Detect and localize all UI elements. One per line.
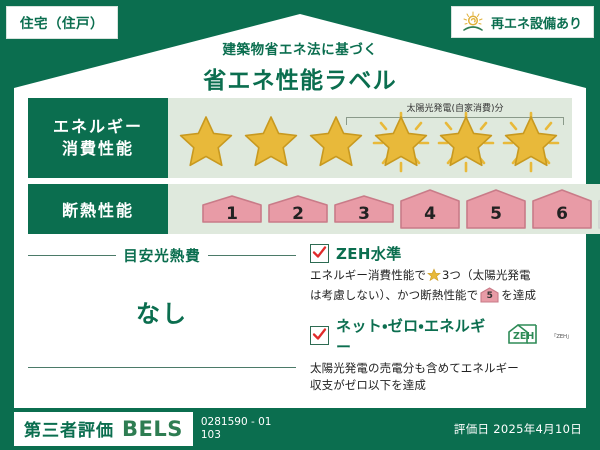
insulation-level-1: 1 bbox=[200, 188, 264, 230]
label-title-block: 建築物省エネ法に基づく 省エネ性能ラベル bbox=[0, 38, 600, 95]
renewable-badge-label: 再エネ設備あり bbox=[491, 13, 582, 32]
performance-rows: エネルギー 消費性能 太陽光発電(自家消費)分 bbox=[28, 98, 572, 240]
zeh-item-standard: ZEH水準 エネルギー消費性能で3つ（太陽光発電 は考慮しない）、かつ断熱性能で… bbox=[310, 243, 572, 305]
zeh-panel: ZEH水準 エネルギー消費性能で3つ（太陽光発電 は考慮しない）、かつ断熱性能で… bbox=[296, 243, 572, 404]
energy-performance-label: 住宅（住戸） 再エネ設備あり 建築物省エネ法に基づく 省 bbox=[0, 0, 600, 450]
zeh-desc-part3: を達成 bbox=[501, 288, 536, 302]
insulation-level-3: 3 bbox=[332, 188, 396, 230]
title-subtitle: 建築物省エネ法に基づく bbox=[0, 38, 600, 58]
bels-badge: 第三者評価 BELS bbox=[14, 412, 193, 446]
divider-right bbox=[208, 255, 296, 256]
zeh-logo-icon: ZEH bbox=[506, 323, 544, 349]
svg-text:ZEH: ZEH bbox=[513, 331, 534, 342]
zeh-net-zero-header: ネット・ゼロ・エネルギー ZEH 「ZEH」 bbox=[310, 315, 572, 357]
insulation-level-scale: 1 2 3 4 5 6 7 bbox=[168, 188, 600, 230]
sun-icon bbox=[460, 11, 486, 33]
zeh-net-zero-description: 太陽光発電の売電分も含めてエネルギー 収支がゼロ以下を達成 bbox=[310, 360, 572, 395]
insulation-level-number: 1 bbox=[200, 204, 264, 224]
insulation-performance-row: 断熱性能 1 2 3 4 5 6 7 bbox=[28, 184, 572, 234]
insulation-level-number: 6 bbox=[530, 204, 594, 224]
third-party-evaluation-label: 第三者評価 bbox=[24, 416, 114, 441]
zeh-net-zero-desc-line1: 太陽光発電の売電分も含めてエネルギー bbox=[310, 361, 519, 375]
insulation-level-4: 4 bbox=[398, 188, 462, 230]
page-title: 省エネ性能ラベル bbox=[0, 61, 600, 95]
certificate-number: 0281590 - 01 103 bbox=[201, 416, 272, 442]
lower-panels: 目安光熱費 なし ZEH水準 エネルギー消費性能で3つ（太陽光発電 bbox=[28, 243, 572, 404]
zeh-standard-description: エネルギー消費性能で3つ（太陽光発電 は考慮しない）、かつ断熱性能で5を達成 bbox=[310, 267, 572, 305]
utility-cost-bottom-divider bbox=[28, 367, 296, 368]
insulation-level-number: 7 bbox=[596, 204, 600, 224]
insulation-row-body: 1 2 3 4 5 6 7 bbox=[168, 184, 600, 234]
utility-cost-panel: 目安光熱費 なし bbox=[28, 243, 296, 404]
evaluation-date: 評価日 2025年4月10日 bbox=[454, 421, 582, 437]
zeh-item-net-zero: ネット・ゼロ・エネルギー ZEH 「ZEH」 太陽光発電の売電分も含めてエネルギ… bbox=[310, 315, 572, 395]
star-icon-solar bbox=[434, 111, 498, 173]
energy-row-label-line1: エネルギー bbox=[53, 116, 143, 138]
energy-performance-row: エネルギー 消費性能 太陽光発電(自家消費)分 bbox=[28, 98, 572, 178]
insulation-level-7: 7 bbox=[596, 188, 600, 230]
utility-cost-title: 目安光熱費 bbox=[123, 245, 201, 266]
star-icon-solar bbox=[499, 111, 563, 173]
bels-logo-text: BELS bbox=[122, 417, 183, 441]
zeh-standard-header: ZEH水準 bbox=[310, 243, 572, 264]
zeh-desc-part2: は考慮しない）、かつ断熱性能で bbox=[310, 288, 478, 302]
insulation-row-label: 断熱性能 bbox=[28, 184, 168, 234]
label-footer: 第三者評価 BELS 0281590 - 01 103 評価日 2025年4月1… bbox=[0, 408, 600, 450]
insulation-level-number: 4 bbox=[398, 204, 462, 224]
energy-row-label: エネルギー 消費性能 bbox=[28, 98, 168, 178]
checkbox-zeh-net-zero[interactable] bbox=[310, 326, 329, 345]
checkbox-zeh-standard[interactable] bbox=[310, 244, 329, 263]
zeh-logo-subtext: 「ZEH」 bbox=[551, 332, 572, 340]
energy-row-body: 太陽光発電(自家消費)分 bbox=[168, 98, 572, 178]
zeh-desc-star-count: 3つ（太陽光発電 bbox=[442, 268, 531, 282]
house-level-icon: 5 bbox=[480, 287, 499, 303]
energy-star-rating bbox=[174, 111, 563, 173]
utility-cost-header: 目安光熱費 bbox=[28, 245, 296, 266]
zeh-desc-part1: エネルギー消費性能で bbox=[310, 268, 426, 282]
star-icon-filled bbox=[304, 111, 368, 173]
zeh-standard-title: ZEH水準 bbox=[336, 243, 402, 264]
renewable-equipment-badge: 再エネ設備あり bbox=[451, 6, 594, 38]
insulation-level-6: 6 bbox=[530, 188, 594, 230]
certificate-number-line2: 103 bbox=[201, 429, 272, 442]
utility-cost-value: なし bbox=[28, 294, 296, 329]
insulation-level-number: 3 bbox=[332, 204, 396, 224]
insulation-level-number: 5 bbox=[464, 204, 528, 224]
check-icon bbox=[312, 245, 327, 260]
energy-row-label-line2: 消費性能 bbox=[62, 138, 134, 160]
divider-left bbox=[28, 255, 116, 256]
house-type-tag: 住宅（住戸） bbox=[6, 6, 118, 39]
zeh-net-zero-title: ネット・ゼロ・エネルギー bbox=[336, 315, 496, 357]
star-icon-solar bbox=[369, 111, 433, 173]
zeh-net-zero-desc-line2: 収支がゼロ以下を達成 bbox=[310, 378, 426, 392]
certificate-number-line1: 0281590 - 01 bbox=[201, 416, 272, 429]
star-icon-filled bbox=[239, 111, 303, 173]
star-icon-filled bbox=[174, 111, 238, 173]
inline-star-icon bbox=[427, 268, 441, 287]
sun-icon-svg bbox=[460, 11, 486, 33]
house-level-number: 5 bbox=[480, 290, 499, 304]
check-icon bbox=[312, 327, 327, 342]
insulation-level-number: 2 bbox=[266, 204, 330, 224]
insulation-level-5: 5 bbox=[464, 188, 528, 230]
insulation-level-2: 2 bbox=[266, 188, 330, 230]
